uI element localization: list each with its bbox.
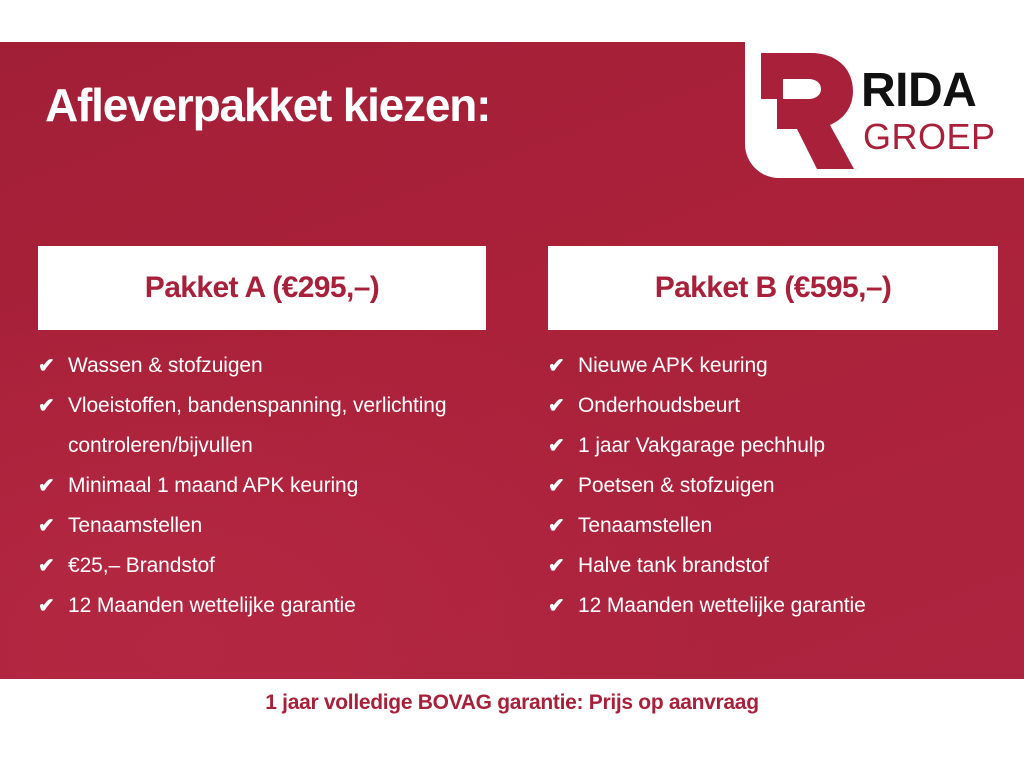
feature-label: Poetsen & stofzuigen <box>578 466 998 506</box>
brand-name-secondary: GROEP <box>863 119 996 155</box>
feature-label: Tenaamstellen <box>578 506 998 546</box>
list-item: ✔ Halve tank brandstof <box>548 546 998 586</box>
feature-label: Nieuwe APK keuring <box>578 346 998 386</box>
list-item: ✔ 12 Maanden wettelijke garantie <box>548 586 998 626</box>
feature-list-b: ✔ Nieuwe APK keuring ✔ Onderhoudsbeurt ✔… <box>548 346 998 626</box>
list-item: ✔ Onderhoudsbeurt <box>548 386 998 426</box>
brand-wordmark: RIDA GROEP <box>861 67 996 155</box>
packages-container: Pakket A (€295,–) ✔ Wassen & stofzuigen … <box>0 246 1024 626</box>
check-icon: ✔ <box>548 546 578 586</box>
package-column-b: Pakket B (€595,–) ✔ Nieuwe APK keuring ✔… <box>0 246 1024 626</box>
list-item: ✔ Poetsen & stofzuigen <box>548 466 998 506</box>
feature-label: Halve tank brandstof <box>578 546 998 586</box>
check-icon: ✔ <box>548 506 578 546</box>
list-item: ✔ Tenaamstellen <box>548 506 998 546</box>
list-item: ✔ Nieuwe APK keuring <box>548 346 998 386</box>
check-icon: ✔ <box>548 386 578 426</box>
rida-r-monogram-icon <box>753 47 857 169</box>
footer-banner: 1 jaar volledige BOVAG garantie: Prijs o… <box>0 679 1024 768</box>
list-item: ✔ 1 jaar Vakgarage pechhulp <box>548 426 998 466</box>
package-header-b[interactable]: Pakket B (€595,–) <box>548 246 998 330</box>
package-title-b: Pakket B (€595,–) <box>655 271 892 305</box>
brand-name-primary: RIDA <box>861 67 976 115</box>
feature-label: 1 jaar Vakgarage pechhulp <box>578 426 998 466</box>
brand-logo-panel: RIDA GROEP <box>745 42 1024 178</box>
slide-canvas: RIDA GROEP Afleverpakket kiezen: Pakket … <box>0 0 1024 768</box>
feature-label: 12 Maanden wettelijke garantie <box>578 586 998 626</box>
check-icon: ✔ <box>548 346 578 386</box>
page-title: Afleverpakket kiezen: <box>45 78 490 132</box>
check-icon: ✔ <box>548 426 578 466</box>
check-icon: ✔ <box>548 466 578 506</box>
feature-label: Onderhoudsbeurt <box>578 386 998 426</box>
footer-note: 1 jaar volledige BOVAG garantie: Prijs o… <box>265 691 758 715</box>
check-icon: ✔ <box>548 586 578 626</box>
